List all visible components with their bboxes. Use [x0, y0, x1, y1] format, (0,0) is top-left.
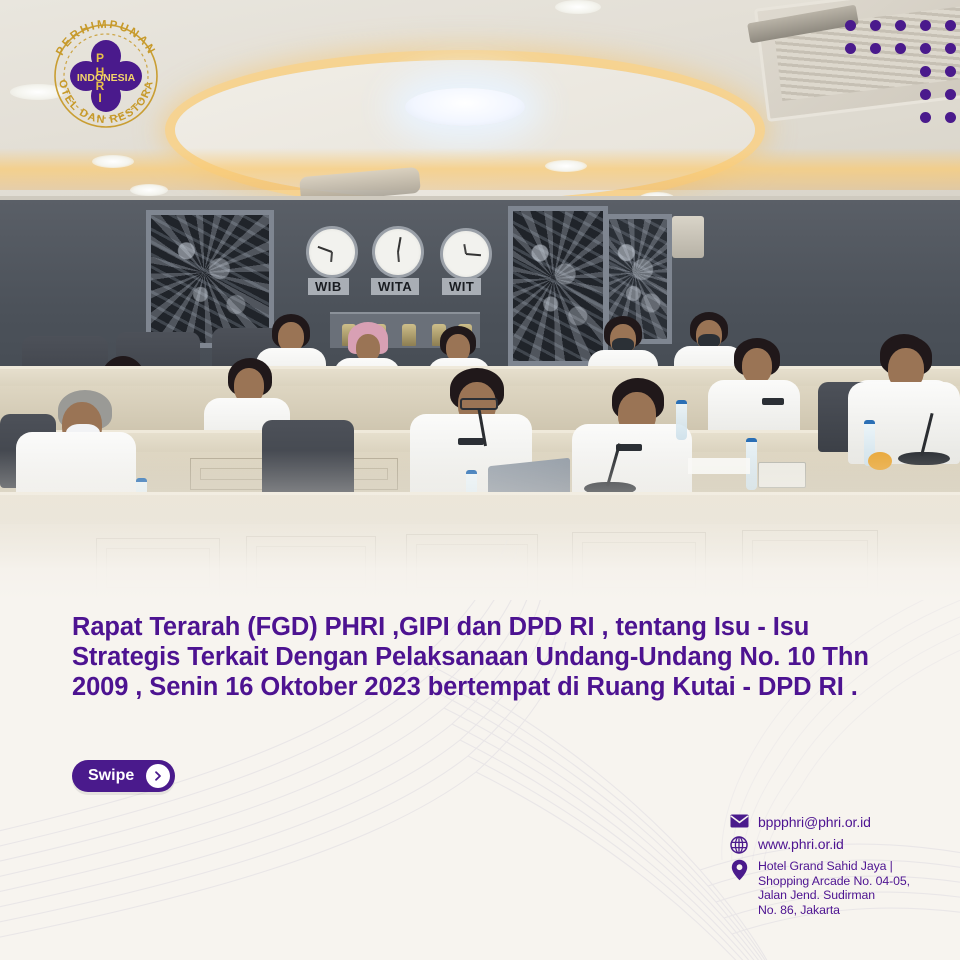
- contact-address-value: Hotel Grand Sahid Jaya | Shopping Arcade…: [758, 859, 910, 917]
- swipe-button[interactable]: Swipe: [72, 760, 175, 792]
- address-line-2: Shopping Arcade No. 04-05,: [758, 874, 910, 888]
- downlight: [92, 155, 134, 168]
- downlight: [130, 184, 168, 196]
- social-media-poster: WIB WITA WIT: [0, 0, 960, 960]
- address-line-1: Hotel Grand Sahid Jaya |: [758, 859, 893, 873]
- wall-speaker: [672, 216, 704, 258]
- carved-wall-panel: [508, 206, 608, 366]
- clock-label-wit: WIT: [442, 278, 481, 295]
- contact-address-row: Hotel Grand Sahid Jaya | Shopping Arcade…: [728, 859, 953, 917]
- wall-clock-wit: [440, 228, 492, 280]
- downlight: [545, 160, 587, 172]
- ceiling-light-fixture: [405, 88, 525, 126]
- contact-website-row[interactable]: www.phri.or.id: [728, 836, 953, 854]
- page-title: Rapat Terarah (FGD) PHRI ,GIPI dan DPD R…: [72, 612, 902, 702]
- phri-logo: PERHIMPUNAN HOTEL DAN RESTORAN P H R I I…: [42, 12, 170, 140]
- svg-text:P: P: [96, 51, 104, 65]
- downlight: [555, 0, 601, 14]
- svg-text:I: I: [98, 91, 101, 105]
- logo-center-word: INDONESIA: [77, 72, 136, 84]
- location-pin-icon: [728, 859, 750, 881]
- water-bottle: [676, 400, 687, 440]
- contact-block: bppphri@phri.or.id www.phri.or.id Hote: [728, 814, 953, 922]
- wall-clock-wita: [372, 226, 424, 278]
- contact-email-row[interactable]: bppphri@phri.or.id: [728, 814, 953, 831]
- globe-icon: [728, 836, 750, 854]
- envelope-icon: [728, 814, 750, 828]
- chevron-right-icon: [146, 764, 170, 788]
- contact-email-value: bppphri@phri.or.id: [758, 814, 871, 831]
- swipe-button-label: Swipe: [88, 767, 134, 785]
- clock-label-wib: WIB: [308, 278, 349, 295]
- address-line-4: No. 86, Jakarta: [758, 903, 840, 917]
- address-line-3: Jalan Jend. Sudirman: [758, 888, 875, 902]
- wall-clock-wib: [306, 226, 358, 278]
- clock-label-wita: WITA: [371, 278, 419, 295]
- contact-website-value: www.phri.or.id: [758, 836, 844, 853]
- photo-fade-overlay: [0, 450, 960, 600]
